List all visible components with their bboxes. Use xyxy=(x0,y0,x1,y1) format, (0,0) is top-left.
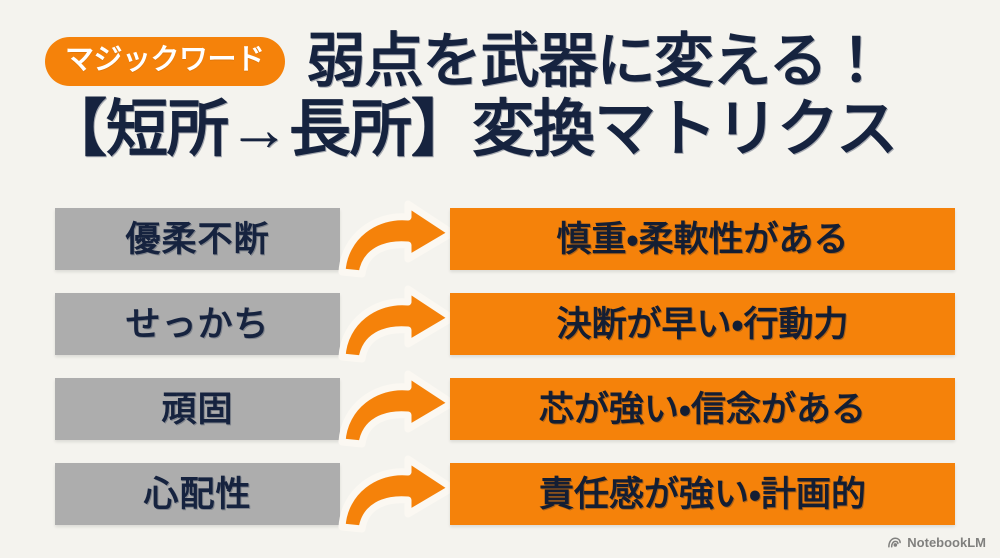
strength-label: 決断が早い・行動力 xyxy=(557,307,849,342)
weakness-box: せっかち xyxy=(55,293,340,355)
weakness-box: 優柔不断 xyxy=(55,208,340,270)
matrix-row: 心配性 責任感が強い・計画的 xyxy=(0,463,1000,525)
matrix-row: せっかち 決断が早い・行動力 xyxy=(0,293,1000,355)
weakness-box: 心配性 xyxy=(55,463,340,525)
magic-word-badge: マジックワード xyxy=(45,37,285,86)
strength-label: 責任感が強い・計画的 xyxy=(539,477,866,512)
matrix-row: 頑固 芯が強い・信念がある xyxy=(0,378,1000,440)
curved-arrow-right-icon xyxy=(332,200,460,280)
strength-box: 決断が早い・行動力 xyxy=(450,293,955,355)
strength-box: 慎重・柔軟性がある xyxy=(450,208,955,270)
watermark-label: NotebookLM xyxy=(907,536,986,549)
weakness-label: 優柔不断 xyxy=(125,222,269,257)
conversion-matrix: 優柔不断 慎重・柔軟性がある せっかち 決断が早い・行動力 xyxy=(0,198,1000,528)
strength-label: 慎重・柔軟性がある xyxy=(557,222,849,257)
strength-box: 芯が強い・信念がある xyxy=(450,378,955,440)
curved-arrow-right-icon xyxy=(332,285,460,365)
strength-box: 責任感が強い・計画的 xyxy=(450,463,955,525)
watermark: NotebookLM xyxy=(887,535,986,550)
weakness-label: 頑固 xyxy=(161,392,233,427)
page-title-line-2: 【短所→長所】変換マトリクス xyxy=(45,97,975,164)
page-title-line-1: 弱点を武器に変える！ xyxy=(307,32,965,91)
weakness-label: 心配性 xyxy=(143,477,251,512)
curved-arrow-right-icon xyxy=(332,455,460,535)
title-first-line-group: マジックワード 弱点を武器に変える！ xyxy=(45,22,965,100)
weakness-label: せっかち xyxy=(125,307,269,342)
poster-header: マジックワード 弱点を武器に変える！ 【短所→長所】変換マトリクス xyxy=(0,0,1000,185)
strength-label: 芯が強い・信念がある xyxy=(539,392,866,427)
weakness-box: 頑固 xyxy=(55,378,340,440)
poster-canvas: マジックワード 弱点を武器に変える！ 【短所→長所】変換マトリクス 優柔不断 慎… xyxy=(0,0,1000,558)
curved-arrow-right-icon xyxy=(332,370,460,450)
matrix-row: 優柔不断 慎重・柔軟性がある xyxy=(0,208,1000,270)
notebooklm-logo-icon xyxy=(887,535,902,550)
